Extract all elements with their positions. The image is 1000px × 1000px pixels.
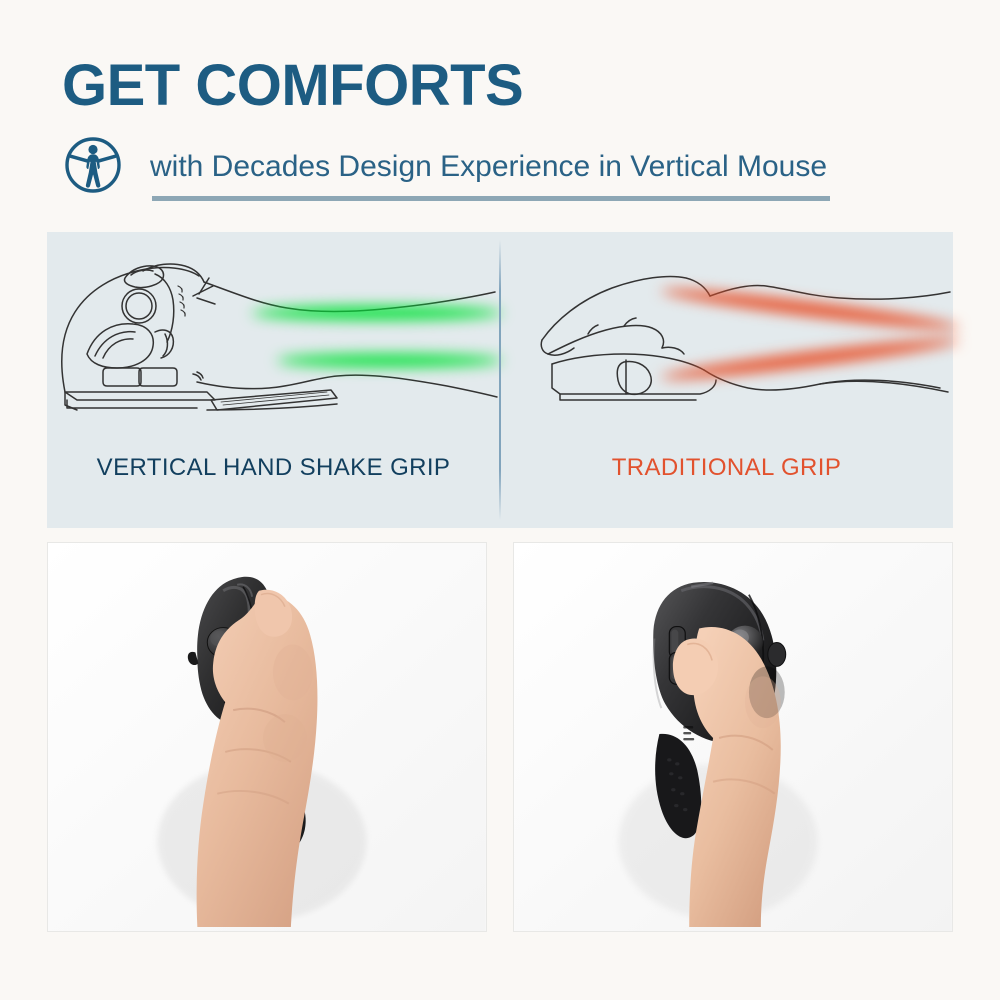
green-flow-beam-lower (277, 354, 502, 367)
page-title: GET COMFORTS (62, 57, 523, 115)
grip-comparison-panel: VERTICAL HAND SHAKE GRIP (47, 232, 953, 528)
vertical-grip-illustration (47, 242, 500, 437)
header: GET COMFORTS with Decades Design Experie… (0, 0, 1000, 222)
caption-traditional-grip: TRADITIONAL GRIP (500, 454, 953, 482)
green-flow-beam-upper (252, 306, 502, 320)
vertical-mouse-hand-line-art (47, 242, 500, 437)
product-feature-page: GET COMFORTS with Decades Design Experie… (0, 0, 1000, 1000)
header-rule (152, 196, 830, 201)
comparison-left: VERTICAL HAND SHAKE GRIP (47, 232, 500, 528)
product-photo-row (47, 542, 953, 932)
comparison-right: TRADITIONAL GRIP (500, 232, 953, 528)
subtitle-row: with Decades Design Experience in Vertic… (62, 134, 827, 196)
caption-vertical-grip: VERTICAL HAND SHAKE GRIP (47, 454, 500, 482)
comparison-divider (499, 240, 501, 520)
vitruvian-man-icon (62, 134, 124, 196)
vertical-mouse-side-grip-photo (513, 542, 953, 932)
traditional-grip-illustration (500, 242, 953, 437)
page-subtitle: with Decades Design Experience in Vertic… (150, 152, 827, 182)
vertical-mouse-front-grip-photo (47, 542, 487, 932)
flat-mouse-hand-line-art (500, 242, 953, 437)
